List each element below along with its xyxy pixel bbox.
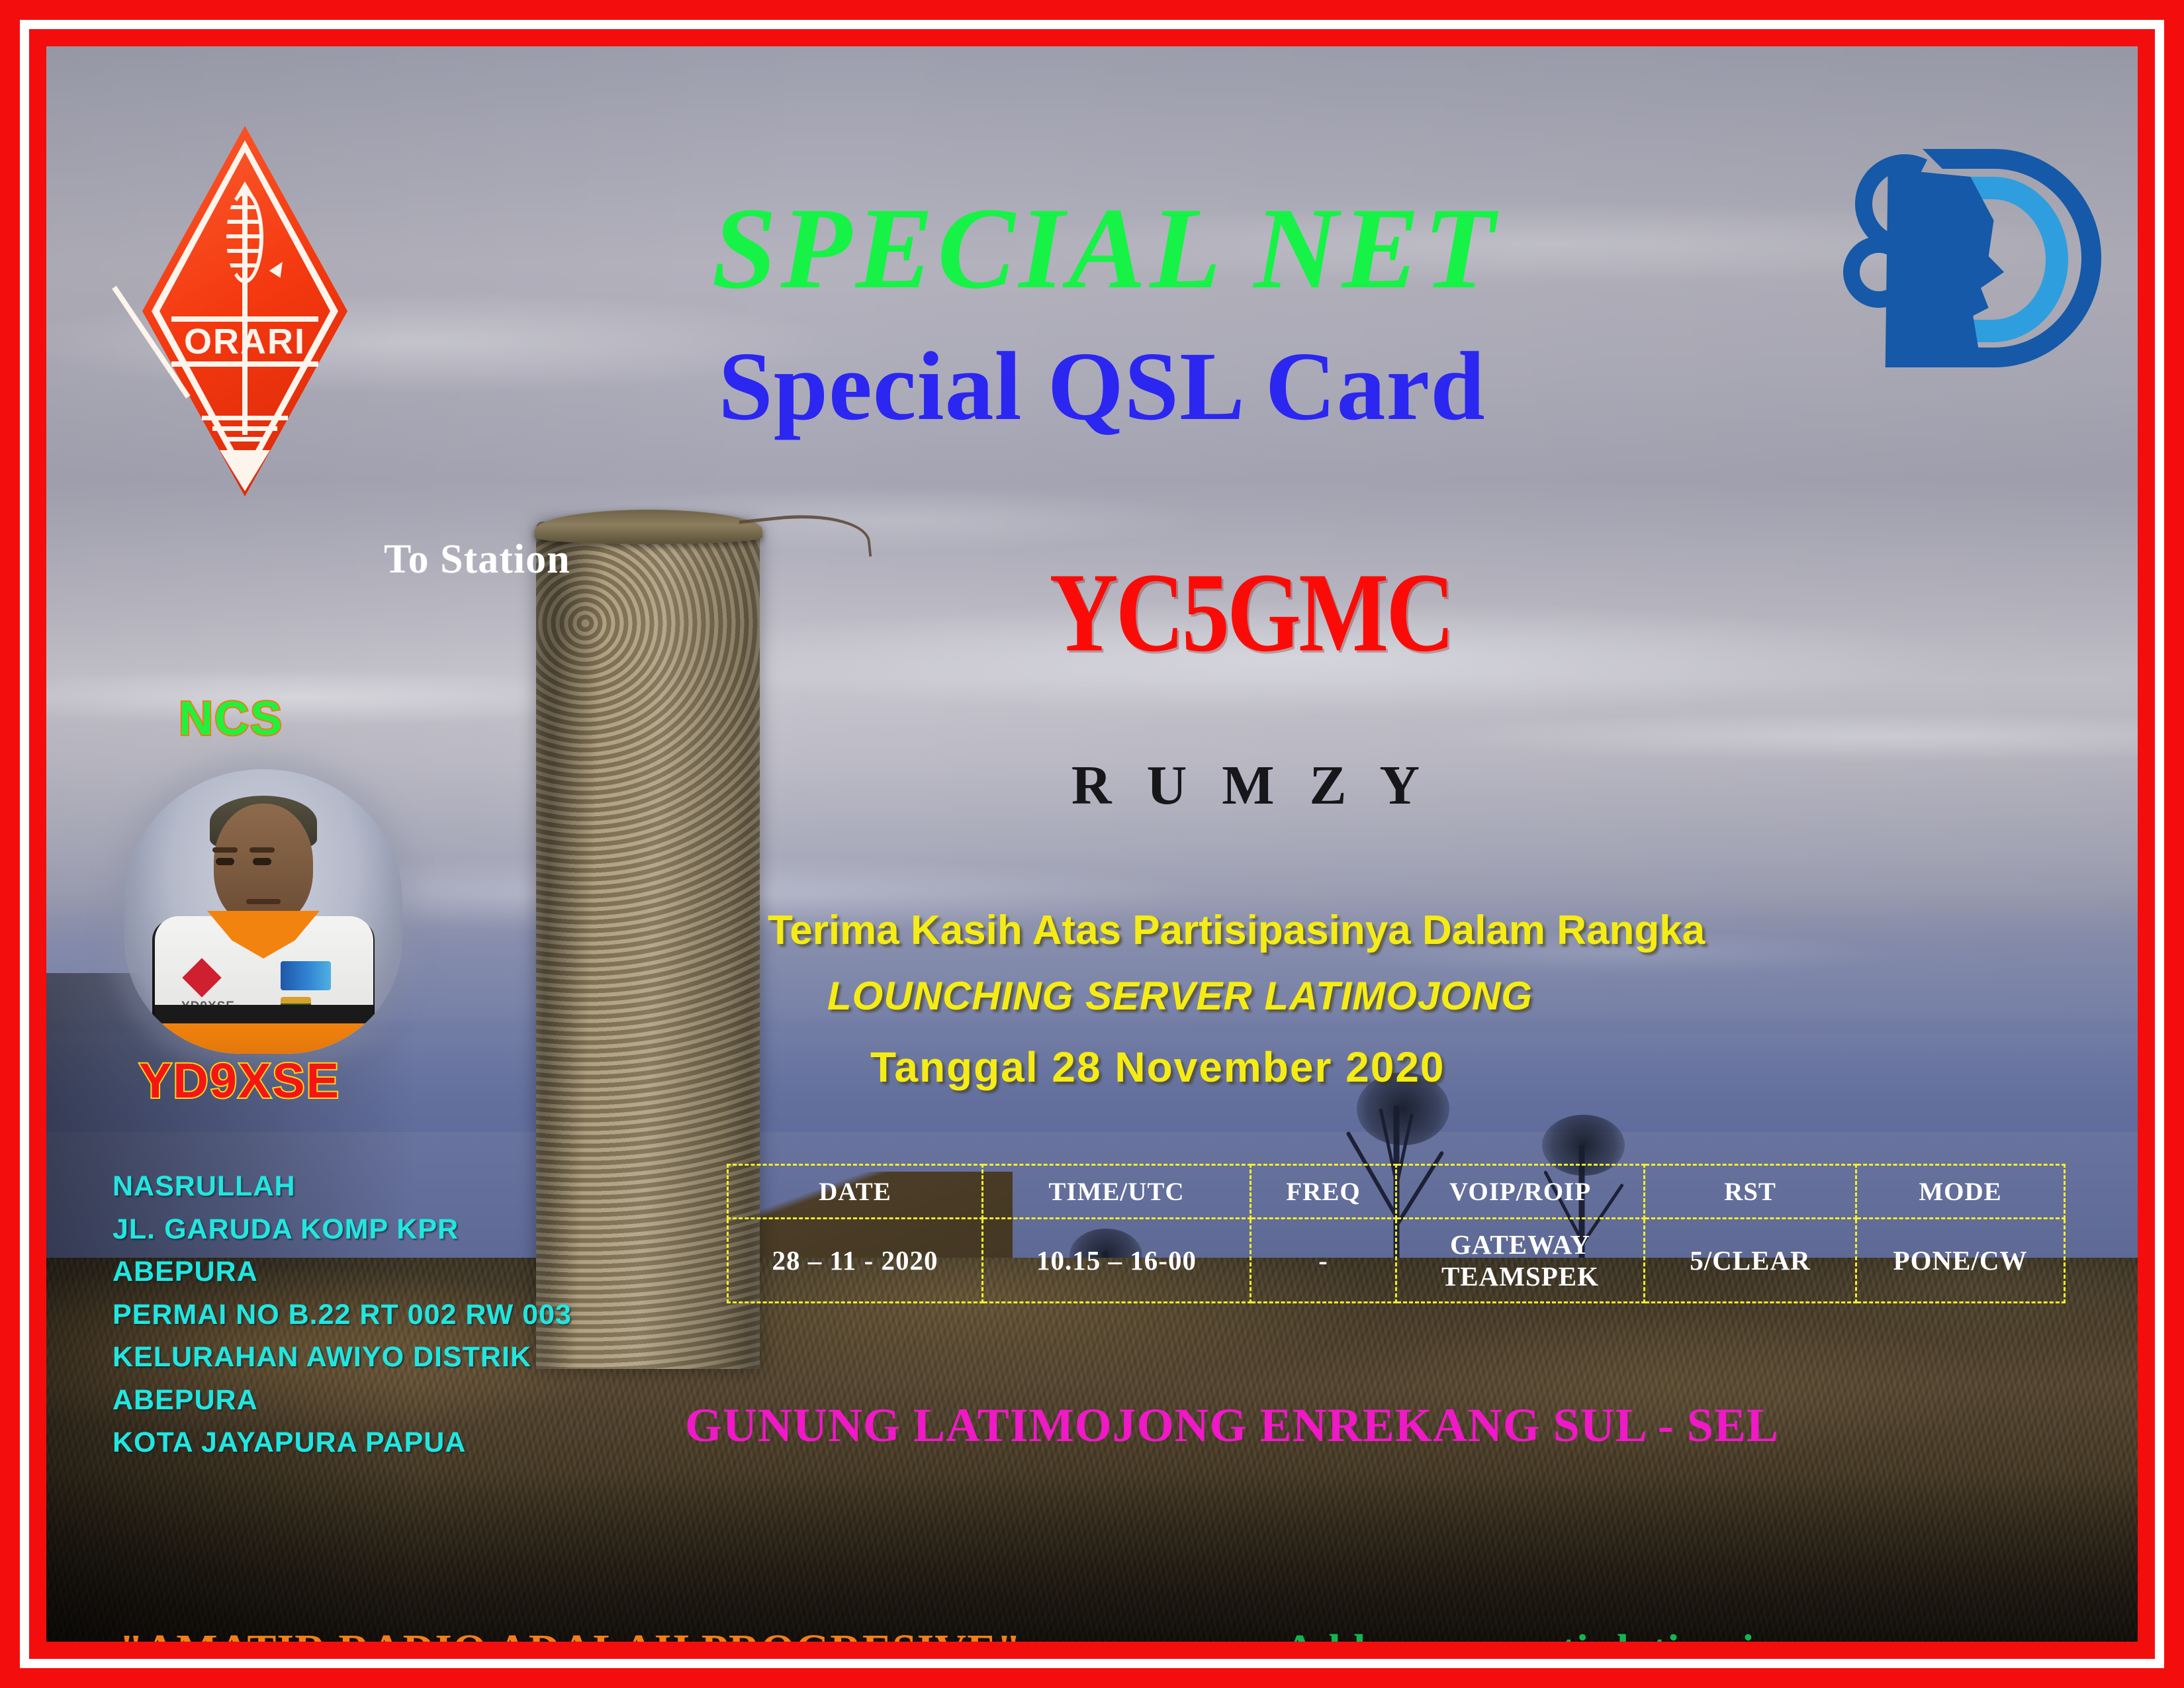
address-line: KOTA JAYAPURA PAPUA	[113, 1421, 572, 1464]
address-line: KELURAHAN AWIYO DISTRIK	[113, 1336, 572, 1379]
ncs-callsign: YD9XSE	[139, 1053, 340, 1109]
column-header-rst: RST	[1645, 1165, 1856, 1219]
frame-white-gap: ORARI SPECIAL NET Special QSL Card To St…	[20, 20, 2164, 1668]
table-row: 28 – 11 - 2020 10.15 – 16-00 - GATEWAY T…	[728, 1219, 2065, 1303]
cell-freq: -	[1251, 1219, 1396, 1303]
column-header-voip: VOIP/ROIP	[1396, 1165, 1645, 1219]
column-header-freq: FREQ	[1251, 1165, 1396, 1219]
event-date: Tanggal 28 November 2020	[870, 1043, 2138, 1092]
table-header-row: DATE TIME/UTC FREQ VOIP/ROIP RST MODE	[728, 1165, 2065, 1219]
cell-voip-line1: GATEWAY	[1398, 1229, 1643, 1260]
ncs-operator-photo: YD9XSE	[124, 769, 402, 1054]
photo-eyebrow	[250, 847, 275, 853]
cell-time: 10.15 – 16-00	[983, 1219, 1251, 1303]
qsl-card-frame: ORARI SPECIAL NET Special QSL Card To St…	[0, 0, 2184, 1688]
orari-ground-line	[223, 437, 267, 442]
frame-inner-red: ORARI SPECIAL NET Special QSL Card To St…	[29, 29, 2155, 1659]
monument-wire	[739, 507, 872, 570]
vignette-bottom	[46, 1470, 2138, 1642]
orari-bar-top	[171, 316, 318, 322]
photo-eyebrow	[212, 847, 238, 853]
photo-sash	[155, 1005, 373, 1023]
ncs-label: NCS	[179, 692, 283, 746]
column-header-date: DATE	[728, 1165, 983, 1219]
recipient-callsign: YC5GMC	[978, 556, 1524, 669]
photo-waistband	[151, 1023, 379, 1054]
photo-chest-logo-patch	[281, 961, 331, 990]
location-caption: GUNUNG LATIMOJONG ENREKANG SUL - SEL	[685, 1398, 1779, 1453]
thanks-message: Terima Kasih Atas Partisipasinya Dalam R…	[768, 907, 2131, 954]
cell-date: 28 – 11 - 2020	[728, 1219, 983, 1303]
ncs-address-block: NASRULLAH JL. GARUDA KOMP KPR ABEPURA PE…	[113, 1165, 572, 1464]
to-station-label: To Station	[384, 536, 570, 583]
orari-logo: ORARI	[142, 126, 347, 496]
page-subtitle: Special QSL Card	[46, 338, 2138, 436]
website-address: Address : amatir.latimojong.com	[1284, 1625, 1916, 1642]
motto-text: "AMATIR RADIO ADALAH PROGRESIVE"	[119, 1625, 1022, 1642]
photo-eye	[253, 858, 271, 865]
address-line: ABEPURA	[113, 1250, 572, 1293]
page-title: SPECIAL NET	[46, 191, 2138, 307]
operator-name: R U M Z Y	[927, 753, 1575, 818]
address-line: PERMAI NO B.22 RT 002 RW 003	[113, 1293, 572, 1336]
column-header-time: TIME/UTC	[983, 1165, 1251, 1219]
orari-bottom-triangle	[220, 450, 270, 491]
qso-details-table: DATE TIME/UTC FREQ VOIP/ROIP RST MODE 28…	[727, 1164, 2066, 1303]
cell-rst: 5/CLEAR	[1645, 1219, 1856, 1303]
card-background-photo: ORARI SPECIAL NET Special QSL Card To St…	[46, 46, 2138, 1642]
cell-mode: PONE/CW	[1856, 1219, 2065, 1303]
cell-voip: GATEWAY TEAMSPEK	[1396, 1219, 1645, 1303]
address-line: JL. GARUDA KOMP KPR	[113, 1208, 572, 1251]
address-line: ABEPURA	[113, 1379, 572, 1422]
column-header-mode: MODE	[1856, 1165, 2065, 1219]
photo-mouth	[246, 899, 281, 904]
address-line: NASRULLAH	[113, 1165, 572, 1208]
cell-voip-line2: TEAMSPEK	[1398, 1260, 1643, 1292]
event-title: LOUNCHING SERVER LATIMOJONG	[827, 973, 2138, 1019]
photo-eye	[216, 858, 234, 865]
